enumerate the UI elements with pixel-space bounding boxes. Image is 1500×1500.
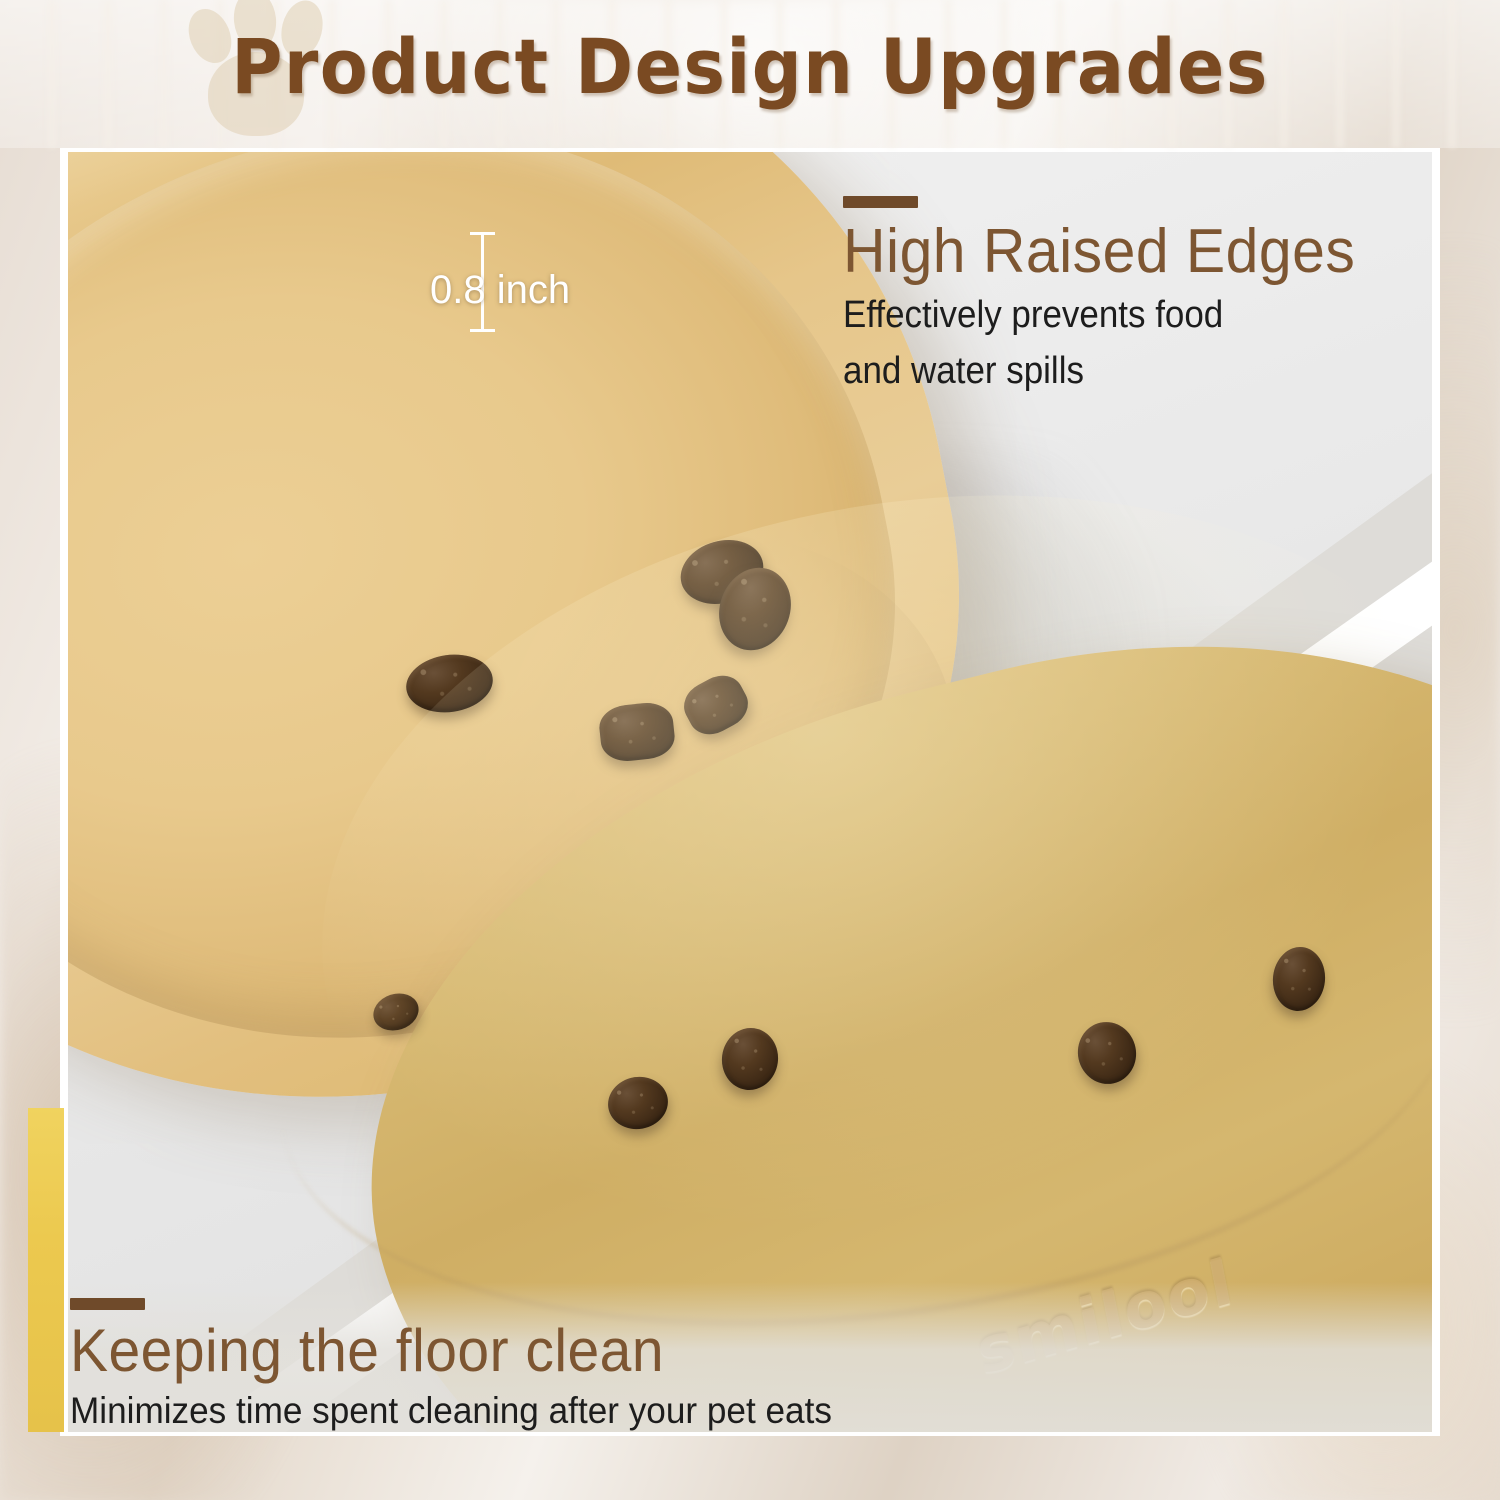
accent-bar [28, 1108, 64, 1432]
feature-heading: High Raised Edges [843, 220, 1432, 283]
feature-keeping-floor-clean: Keeping the floor clean Minimizes time s… [70, 1298, 1270, 1434]
feature-rule [843, 196, 918, 208]
feature-body-line-1: Effectively prevents food [843, 293, 1413, 339]
product-infographic: Product Design Upgrades smiloo [0, 0, 1500, 1500]
feature-body-line-2: and water spills [843, 349, 1413, 395]
header-banner: Product Design Upgrades [0, 0, 1500, 148]
feature-body: Minimizes time spent cleaning after your… [70, 1389, 1210, 1433]
feature-rule [70, 1298, 145, 1310]
feature-high-raised-edges: High Raised Edges Effectively prevents f… [843, 196, 1463, 394]
feature-heading: Keeping the floor clean [70, 1320, 1210, 1381]
dimension-cap-bottom [470, 329, 495, 332]
dimension-label: 0.8 inch [430, 268, 570, 313]
page-title: Product Design Upgrades [60, 22, 1440, 111]
